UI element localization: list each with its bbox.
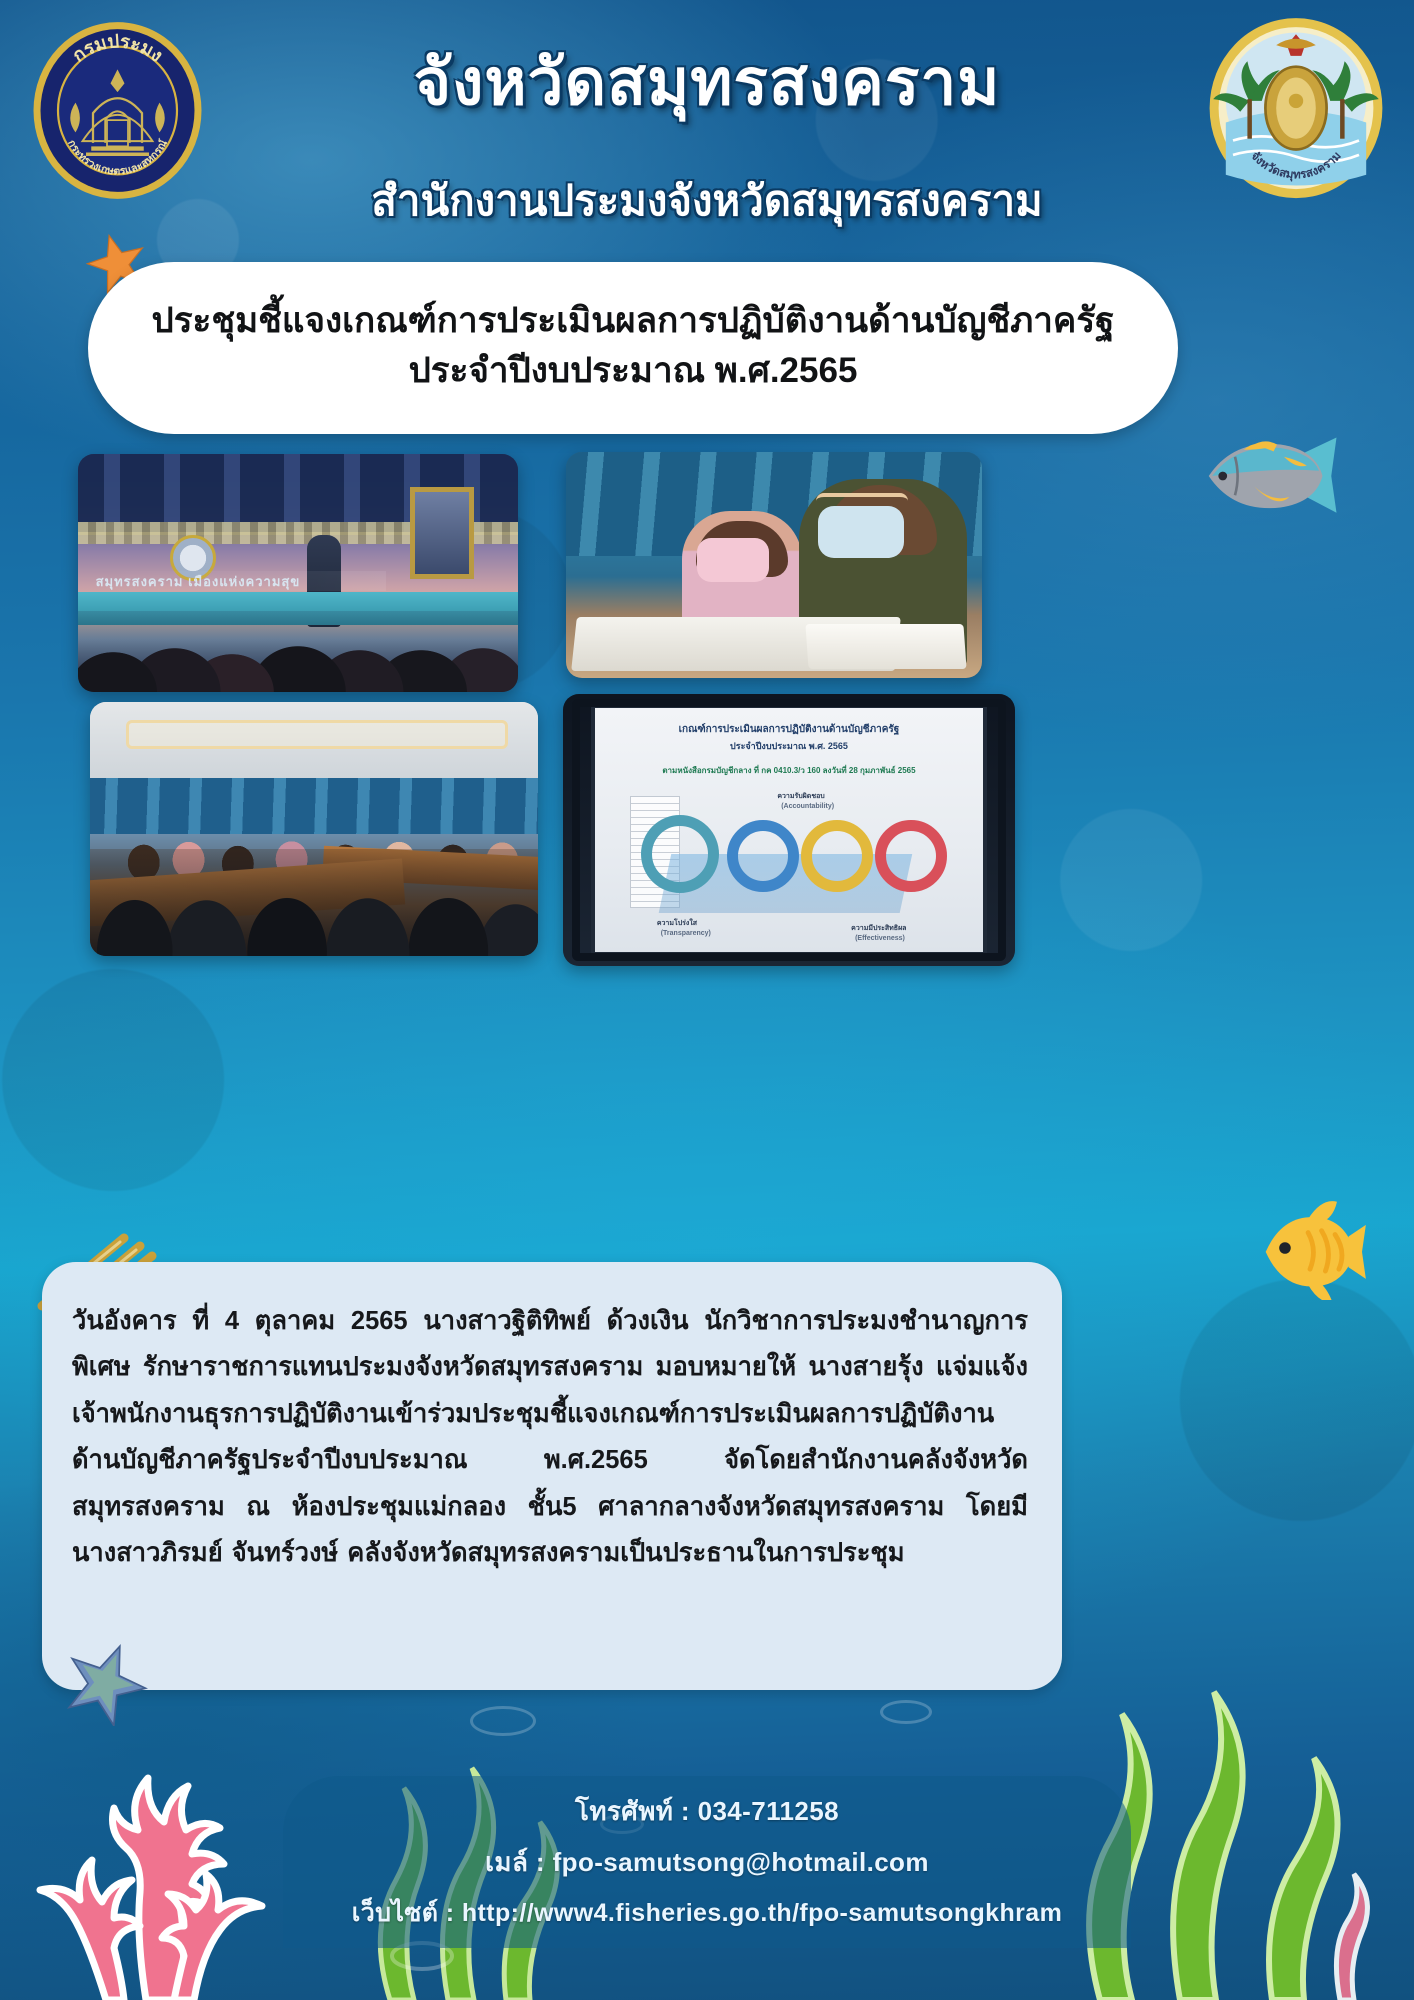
footer-website[interactable]: เว็บไซต์ : http://www4.fisheries.go.th/f… [352, 1893, 1062, 1933]
slide-label-effectiveness-en: (Effectiveness) [855, 935, 905, 942]
event-title-line-1: ประชุมชี้แจงเกณฑ์การประเมินผลการปฏิบัติง… [152, 296, 1115, 346]
slide-title-3: ตามหนังสือกรมบัญชีกลาง ที่ กค 0410.3/ว 1… [618, 764, 960, 777]
bubble-icon [880, 1700, 932, 1724]
slide-label-accountability-en: (Accountability) [781, 803, 834, 810]
slide-label-effectiveness-th: ความมีประสิทธิผล [851, 923, 906, 934]
slide-label-transparency-en: (Transparency) [661, 930, 711, 937]
pink-coral-icon [18, 1700, 298, 2000]
event-description-paragraph: วันอังคาร ที่ 4 ตุลาคม 2565 นางสาวฐิติทิ… [72, 1298, 1028, 1576]
photo-projector-slide[interactable]: เกณฑ์การประเมินผลการปฏิบัติงานด้านบัญชีภ… [563, 694, 1015, 966]
photo-conference-hall[interactable] [90, 702, 538, 956]
poster-root: กรมประมง กระทรวงเกษตรและสหกรณ์ [0, 0, 1414, 2000]
event-title-card: ประชุมชี้แจงเกณฑ์การประเมินผลการปฏิบัติง… [88, 262, 1178, 434]
slide-title-2: ประจำปีงบประมาณ พ.ศ. 2565 [626, 739, 953, 753]
contact-footer: โทรศัพท์ : 034-711258 เมล์ : fpo-samutso… [283, 1776, 1131, 1948]
slide-label-accountability-th: ความรับผิดชอบ [777, 791, 824, 802]
slide-ring-blue [727, 820, 799, 892]
slide-ring-red [875, 820, 947, 892]
header-org-subtitle: สำนักงานประมงจังหวัดสมุทรสงคราม [0, 168, 1414, 234]
photo1-backdrop-text: สมุทรสงคราม เมืองแห่งความสุข [96, 571, 386, 591]
bubble-icon [470, 1706, 536, 1736]
poster-header: กรมประมง กระทรวงเกษตรและสหกรณ์ [0, 0, 1414, 265]
slide-title-1: เกณฑ์การประเมินผลการปฏิบัติงานด้านบัญชีภ… [626, 722, 953, 737]
photo-two-officials[interactable] [566, 452, 982, 678]
photo-stage-backdrop[interactable]: สมุทรสงคราม เมืองแห่งความสุข [78, 454, 518, 692]
footer-email: เมล์ : fpo-samutsong@hotmail.com [485, 1842, 929, 1883]
event-title-line-2: ประจำปีงบประมาณ พ.ศ.2565 [409, 346, 858, 396]
photo-gallery: สมุทรสงคราม เมืองแห่งความสุข [78, 452, 1334, 972]
slide-ring-yellow [801, 820, 873, 892]
header-org-title: จังหวัดสมุทรสงคราม [0, 48, 1414, 117]
event-description-card: วันอังคาร ที่ 4 ตุลาคม 2565 นางสาวฐิติทิ… [42, 1262, 1062, 1690]
yellow-tang-fish-icon [1252, 1196, 1368, 1300]
footer-phone: โทรศัพท์ : 034-711258 [575, 1791, 839, 1832]
slide-label-transparency-th: ความโปร่งใส [657, 918, 697, 929]
